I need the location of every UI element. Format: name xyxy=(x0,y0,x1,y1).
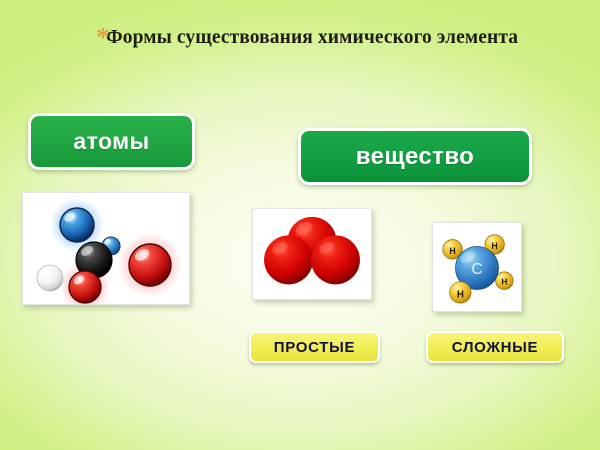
simple-substances-button[interactable]: ПРОСТЫЕ xyxy=(249,331,380,363)
hydrogen-atom-label: H xyxy=(491,241,497,251)
complex-substances-button[interactable]: СЛОЖНЫЕ xyxy=(426,331,564,363)
hydrogen-atom-label: H xyxy=(501,277,507,287)
slide-canvas: * Формы существования химического элемен… xyxy=(0,0,600,450)
simple-substance-image[interactable] xyxy=(252,208,372,300)
page-title: * Формы существования химического элемен… xyxy=(80,26,530,51)
complex-substance-image[interactable]: C H H H H xyxy=(432,222,522,312)
page-title-text: Формы существования химического элемента xyxy=(80,26,530,51)
carbon-atom-label: C xyxy=(471,261,482,278)
simple-substances-button-label: ПРОСТЫЕ xyxy=(274,339,355,356)
atoms-image[interactable] xyxy=(22,192,190,305)
simple-substance-molecule-svg xyxy=(253,209,371,299)
complex-substance-molecule-svg: C H H H H xyxy=(433,223,521,311)
complex-substances-button-label: СЛОЖНЫЕ xyxy=(452,339,538,356)
atoms-button[interactable]: атомы xyxy=(28,113,195,170)
hydrogen-atom-label: H xyxy=(449,246,455,256)
atoms-button-label: атомы xyxy=(73,128,149,155)
asterisk-bullet-icon: * xyxy=(96,24,110,51)
hydrogen-atom-label: H xyxy=(457,289,464,300)
substance-button-label: вещество xyxy=(356,143,474,171)
atoms-illustration-svg xyxy=(23,193,189,304)
substance-button[interactable]: вещество xyxy=(298,128,532,185)
